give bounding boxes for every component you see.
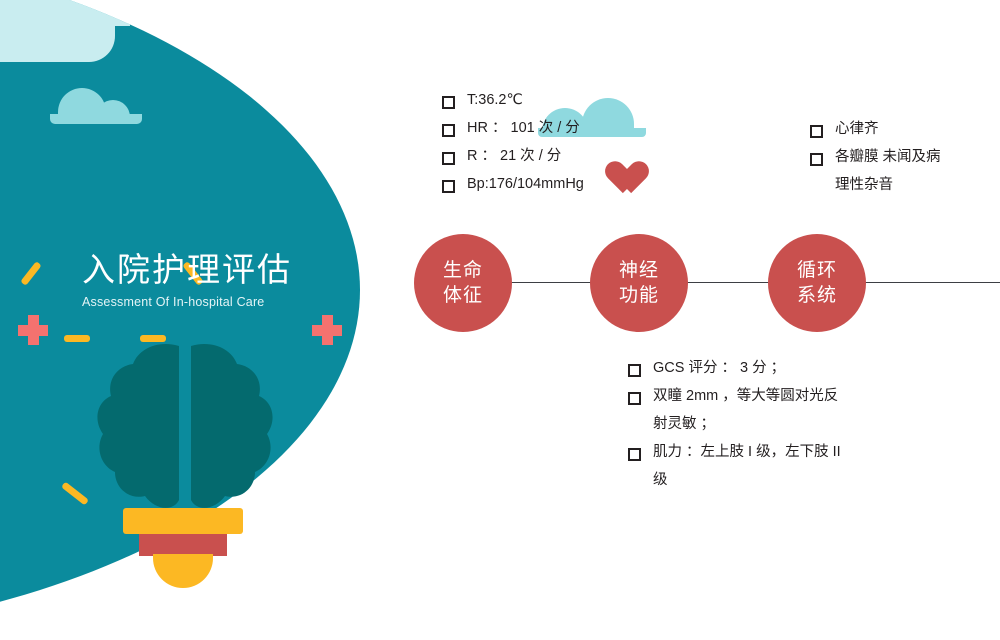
node-label-line2: 功能 (619, 283, 659, 308)
neuro-function-list: GCS 评分 ： 3 分 ； 双瞳 2mm ，等大等圆对光反 射灵敏 ； 肌力 … (628, 358, 888, 491)
square-bullet-icon (810, 149, 823, 166)
list-item-text: T:36.2℃ (467, 90, 523, 111)
list-item-text: 双瞳 2mm ，等大等圆对光反 (653, 386, 838, 407)
square-bullet-icon (442, 148, 455, 165)
list-item: 双瞳 2mm ，等大等圆对光反 (628, 386, 888, 407)
list-item: T:36.2℃ (442, 90, 762, 111)
list-item: 肌力 ：左上肢 I 级，左下肢 II (628, 442, 888, 463)
node-vital-signs[interactable]: 生命 体征 (414, 234, 512, 332)
node-label-line2: 系统 (797, 283, 837, 308)
list-item: 心律齐 (810, 119, 995, 140)
list-item-text: 心律齐 (835, 119, 879, 140)
list-item-text: Bp:176/104mmHg (467, 174, 584, 195)
square-bullet-icon (628, 444, 641, 461)
list-item-continuation: 射灵敏 ； (653, 414, 888, 435)
bulb-band (139, 534, 227, 556)
list-item: R ： 21 次 / 分 (442, 146, 762, 167)
cross-left-icon (18, 315, 48, 345)
node-label-line1: 生命 (443, 258, 483, 283)
node-neuro-function[interactable]: 神经 功能 (590, 234, 688, 332)
square-bullet-icon (442, 176, 455, 193)
square-bullet-icon (628, 360, 641, 377)
square-bullet-icon (442, 92, 455, 109)
square-bullet-icon (442, 120, 455, 137)
page-subtitle: Assessment Of In-hospital Care (82, 295, 292, 309)
circulatory-list: 心律齐 各瓣膜 未闻及病 理性杂音 (810, 119, 995, 196)
bulb-tip (153, 554, 213, 588)
list-item: HR ： 101 次 / 分 (442, 118, 762, 139)
node-label-line1: 神经 (619, 258, 659, 283)
list-item-continuation: 理性杂音 (835, 175, 995, 196)
page-title: 入院护理评估 (82, 252, 292, 288)
list-item: GCS 评分 ： 3 分 ； (628, 358, 888, 379)
node-label-line2: 体征 (443, 283, 483, 308)
node-label-line1: 循环 (797, 258, 837, 283)
square-bullet-icon (628, 388, 641, 405)
list-item-text: 肌力 ：左上肢 I 级，左下肢 II (653, 442, 841, 463)
brain-lightbulb-icon (85, 340, 285, 565)
cloud-large-icon (0, 0, 140, 50)
slide-canvas: 入院护理评估 Assessment Of In-hospital Care 生命… (0, 0, 1000, 563)
title-block: 入院护理评估 Assessment Of In-hospital Care (82, 252, 292, 309)
list-item-continuation: 级 (653, 470, 888, 491)
square-bullet-icon (810, 121, 823, 138)
list-item: 各瓣膜 未闻及病 (810, 147, 995, 168)
list-item: Bp:176/104mmHg (442, 174, 762, 195)
list-item-text: GCS 评分 ： 3 分 ； (653, 358, 785, 379)
list-item-text: HR ： 101 次 / 分 (467, 118, 580, 139)
cross-right-icon (312, 315, 342, 345)
cloud-mid-icon (50, 88, 150, 124)
node-circulatory-system[interactable]: 循环 系统 (768, 234, 866, 332)
vital-signs-list: T:36.2℃ HR ： 101 次 / 分 R ： 21 次 / 分 Bp:1… (442, 90, 762, 202)
ray-icon (20, 261, 42, 286)
list-item-text: R ： 21 次 / 分 (467, 146, 561, 167)
connector-line (462, 282, 1000, 283)
list-item-text: 各瓣膜 未闻及病 (835, 147, 941, 168)
bulb-neck (123, 508, 243, 534)
